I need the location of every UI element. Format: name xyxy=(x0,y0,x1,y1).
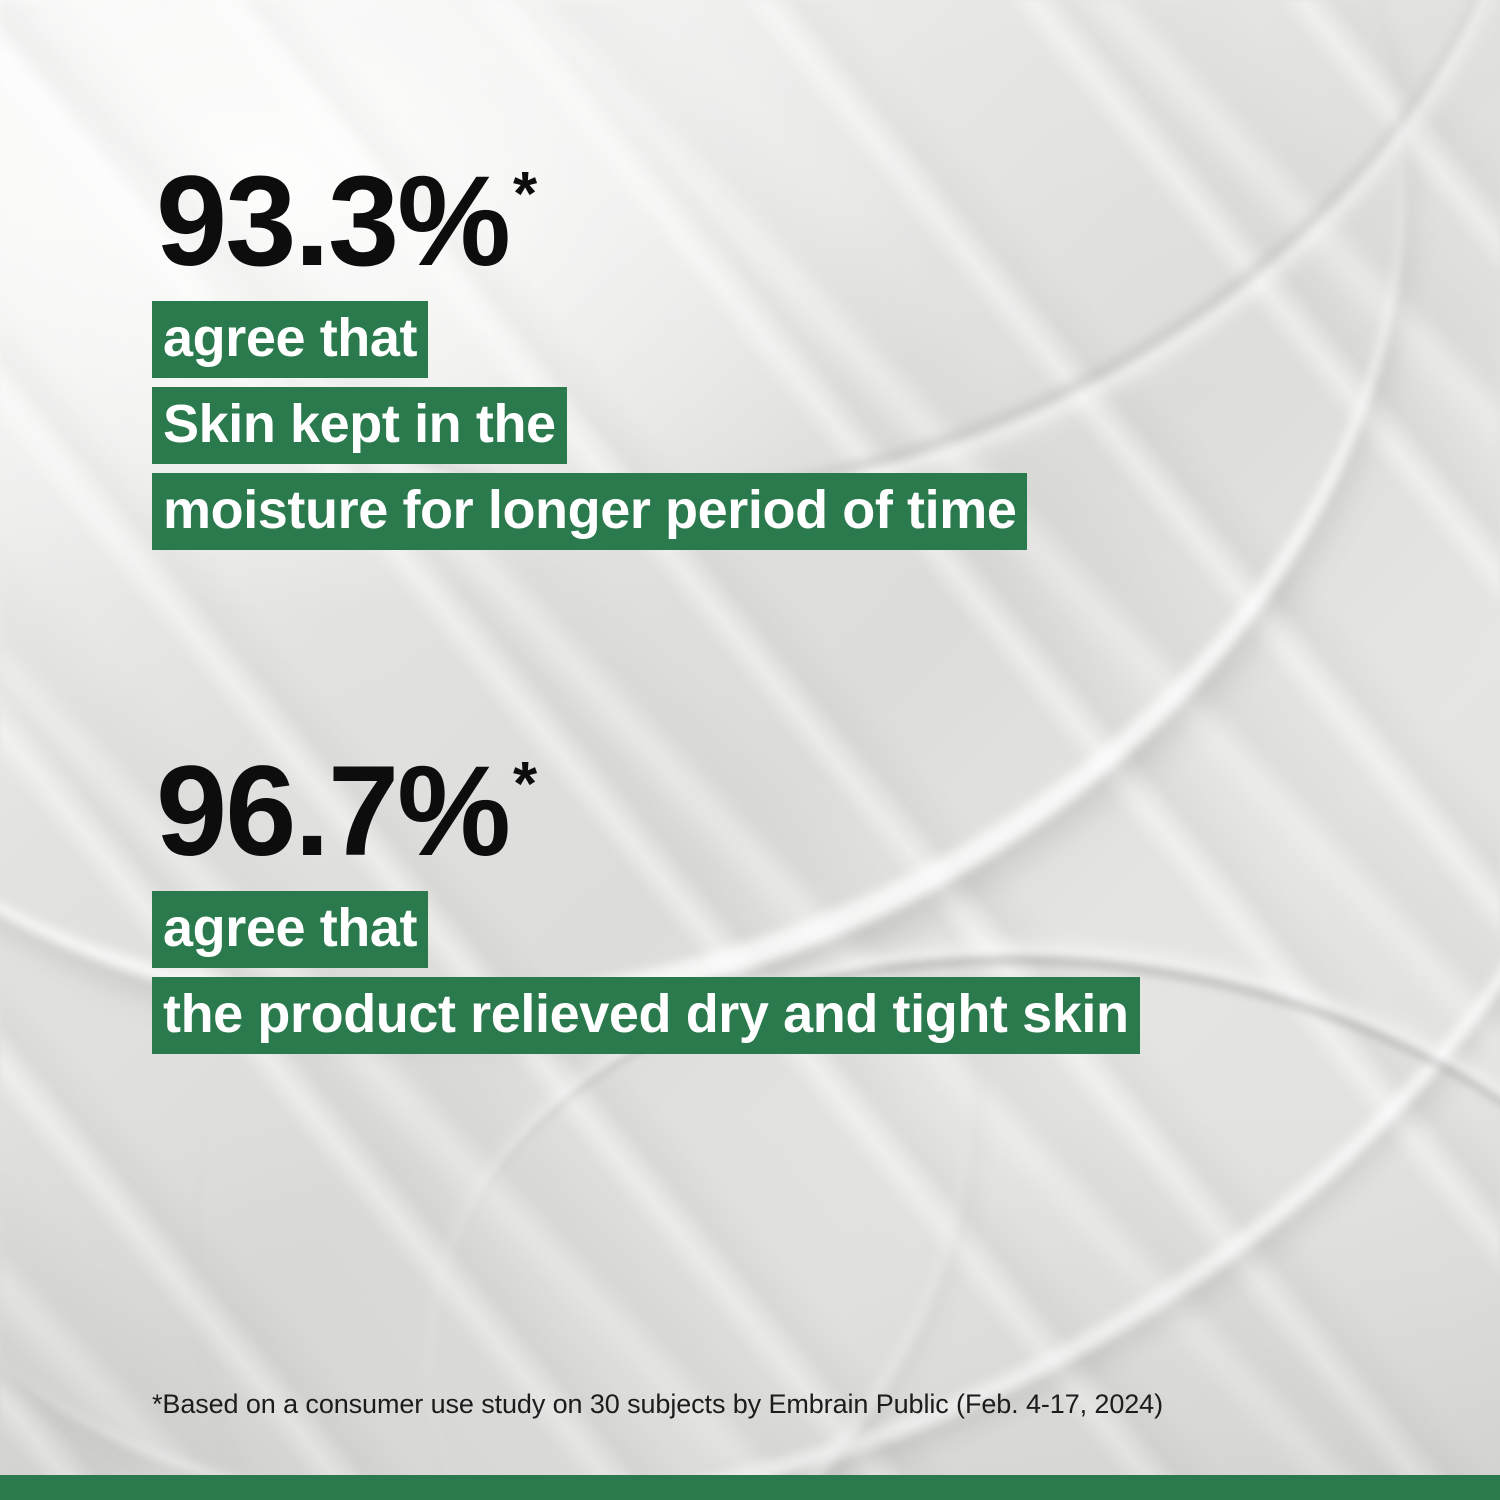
stat-block-96: 96.7%* agree that the product relieved d… xyxy=(152,748,1140,1054)
stat-percent-93-asterisk: * xyxy=(513,160,535,229)
stat-percent-96-value: 96.7% xyxy=(156,740,509,883)
stat-93-line-1: agree that xyxy=(152,301,428,378)
bottom-brand-bar xyxy=(0,1475,1500,1500)
study-footnote: *Based on a consumer use study on 30 sub… xyxy=(152,1389,1163,1420)
stat-percent-96-asterisk: * xyxy=(513,750,535,819)
product-claim-poster: 93.3%* agree that Skin kept in the moist… xyxy=(0,0,1500,1500)
stat-93-highlight-lines: agree that Skin kept in the moisture for… xyxy=(152,301,1027,550)
stat-96-highlight-lines: agree that the product relieved dry and … xyxy=(152,891,1140,1054)
stat-block-93: 93.3%* agree that Skin kept in the moist… xyxy=(152,158,1027,550)
stat-percent-93-value: 93.3% xyxy=(156,150,509,293)
stat-93-line-2: Skin kept in the xyxy=(152,387,567,464)
poster-content: 93.3%* agree that Skin kept in the moist… xyxy=(0,0,1500,1500)
stat-percent-96: 96.7%* xyxy=(156,748,1140,876)
stat-93-line-3: moisture for longer period of time xyxy=(152,473,1027,550)
stat-percent-93: 93.3%* xyxy=(156,158,1027,286)
stat-96-line-2: the product relieved dry and tight skin xyxy=(152,977,1140,1054)
stat-96-line-1: agree that xyxy=(152,891,428,968)
